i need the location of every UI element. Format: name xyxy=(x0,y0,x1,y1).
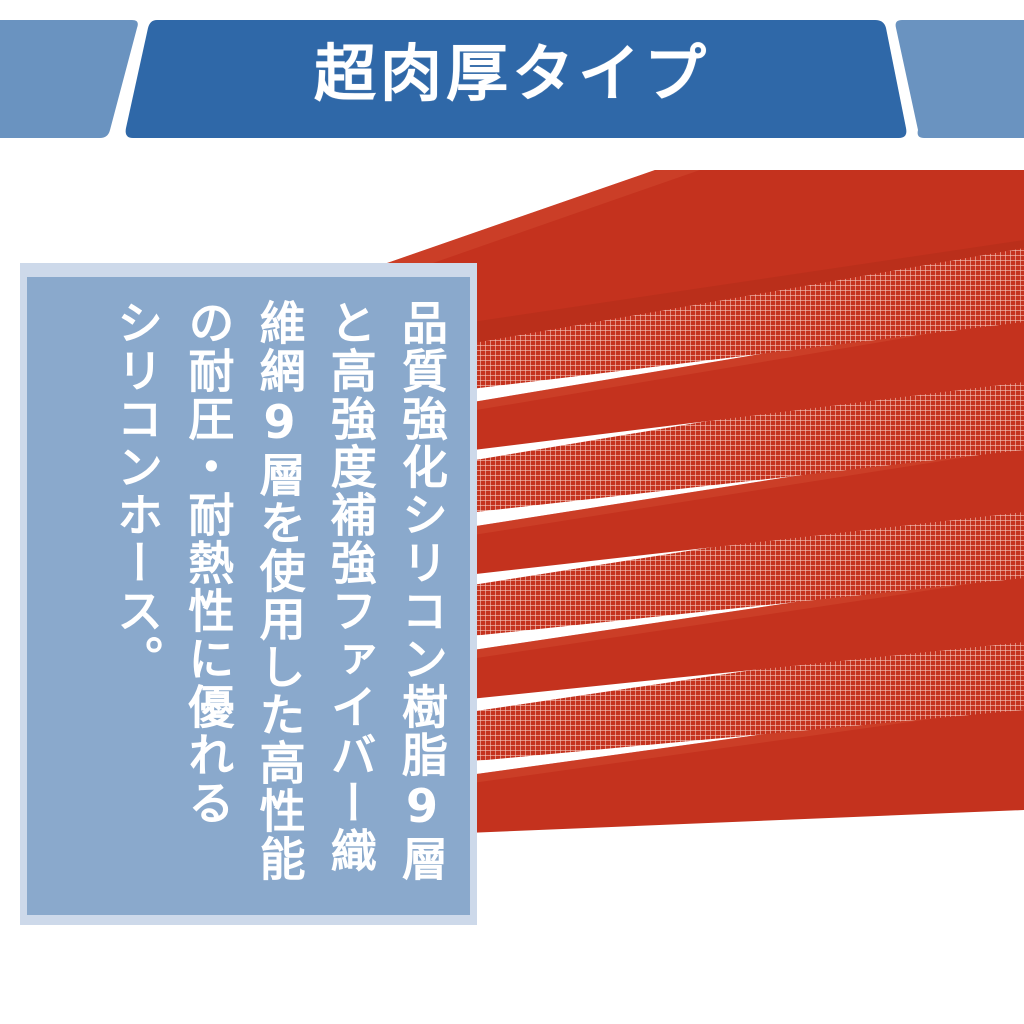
text-column-3: 維網9層を使用した高性能 xyxy=(254,299,303,883)
header-banner: 超肉厚タイプ xyxy=(0,0,1024,150)
text-column-5: シリコンホース。 xyxy=(112,299,161,683)
header-center-banner-shape xyxy=(126,20,907,138)
text-column-2: と高強度補強ファイバー織 xyxy=(326,299,375,875)
text-column-1: 品質強化シリコン樹脂9層 xyxy=(397,299,446,883)
header-right-accent-shape xyxy=(896,20,1024,138)
text-column-4: の耐圧・耐熱性に優れる xyxy=(183,299,232,827)
product-feature-banner: 超肉厚タイプ xyxy=(0,0,1024,1024)
header-left-accent-shape xyxy=(0,20,138,138)
info-panel-text: 品質強化シリコン樹脂9層 と高強度補強ファイバー織 維網9層を使用した高性能 の… xyxy=(27,277,470,915)
